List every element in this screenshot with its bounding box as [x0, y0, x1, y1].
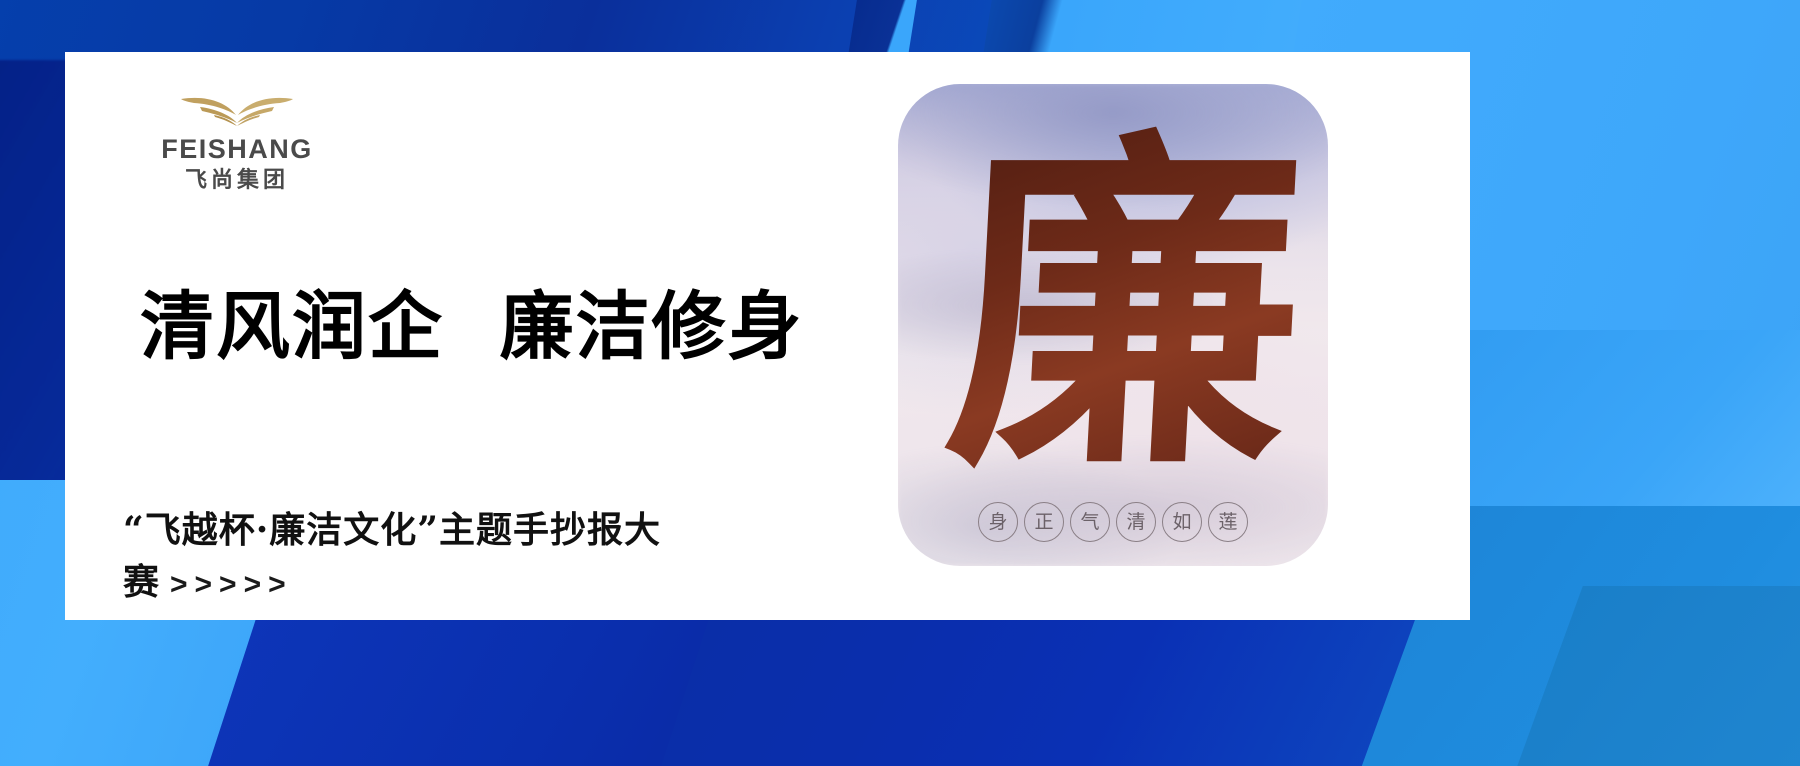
subtitle-block: “飞越杯·廉洁文化”主题手抄报大 赛>>>>>: [123, 504, 883, 608]
content-card: FEISHANG 飞尚集团 清风润企 廉洁修身 “飞越杯·廉洁文化”主题手抄报大…: [65, 52, 1470, 620]
artwork-motto-row: 身 正 气 清 如 莲: [898, 502, 1328, 542]
motto-char-3: 气: [1070, 502, 1110, 542]
subtitle-line-1: “飞越杯·廉洁文化”主题手抄报大: [123, 504, 883, 556]
artwork-calligraphy-character: 廉: [899, 92, 1328, 522]
motto-char-4: 清: [1116, 502, 1156, 542]
motto-char-5: 如: [1162, 502, 1202, 542]
brand-latin-name: FEISHANG: [137, 136, 337, 163]
motto-char-6: 莲: [1208, 502, 1248, 542]
subtitle-line-2: 赛>>>>>: [123, 556, 883, 608]
motto-char-1: 身: [978, 502, 1018, 542]
banner-stage: FEISHANG 飞尚集团 清风润企 廉洁修身 “飞越杯·廉洁文化”主题手抄报大…: [0, 0, 1800, 766]
artwork-card: 廉 身 正 气 清 如 莲: [898, 84, 1328, 566]
subtitle-line-2-prefix: 赛: [123, 561, 160, 603]
motto-char-2: 正: [1024, 502, 1064, 542]
chevron-arrows-icon: >>>>>: [170, 568, 293, 601]
brand-logo: FEISHANG 飞尚集团: [137, 92, 337, 191]
feishang-wing-logo-icon: [178, 92, 296, 132]
headline-title: 清风润企 廉洁修身: [140, 290, 804, 364]
brand-chinese-name: 飞尚集团: [137, 169, 337, 191]
